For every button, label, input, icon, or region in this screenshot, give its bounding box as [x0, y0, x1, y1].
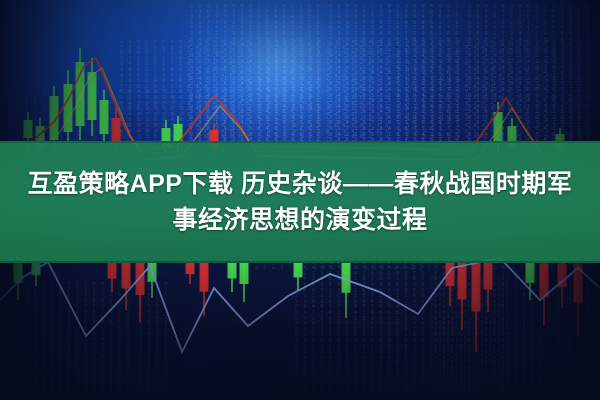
headline-line-1: 互盈策略APP下载 历史杂谈——春秋战国时期军 — [28, 169, 573, 199]
headline-container: 互盈策略APP下载 历史杂谈——春秋战国时期军 事经济思想的演变过程 — [0, 141, 600, 263]
headline-line-2: 事经济思想的演变过程 — [172, 205, 427, 235]
banner-image: 2 9 5 1 6 0 4 8 3 7 2 9 5 1 6 0 0 6 4 9 … — [0, 0, 600, 400]
